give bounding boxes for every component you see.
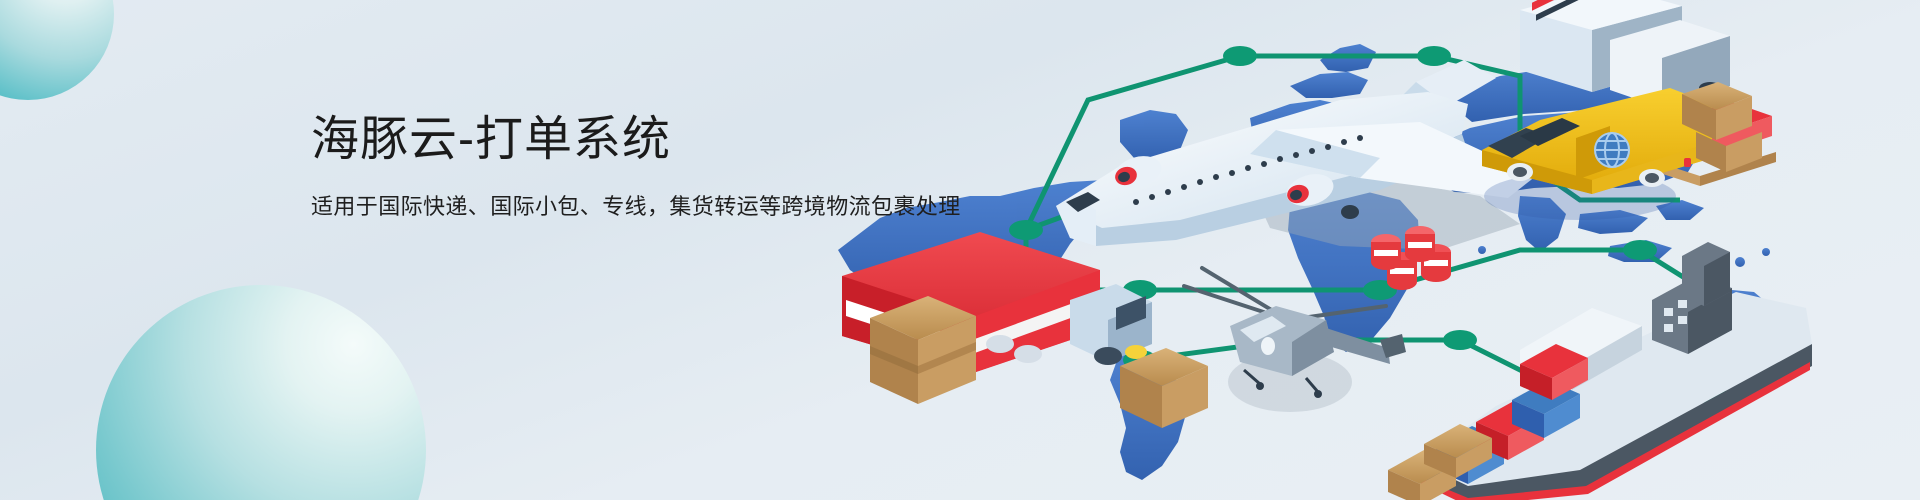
decorative-circle-bottom-left (96, 285, 426, 500)
hero-banner: 海豚云-打单系统 适用于国际快递、国际小包、专线，集货转运等跨境物流包裹处理 (0, 0, 1920, 500)
page-title: 海豚云-打单系统 (311, 110, 961, 170)
cardboard-boxes-truck (870, 296, 976, 404)
page-subtitle: 适用于国际快递、国际小包、专线，集货转运等跨境物流包裹处理 (311, 192, 961, 223)
decorative-circle-top-left (0, 0, 114, 100)
global-logistics-illustration (820, 0, 1920, 500)
hero-text-block: 海豚云-打单系统 适用于国际快递、国际小包、专线，集货转运等跨境物流包裹处理 (311, 110, 961, 223)
